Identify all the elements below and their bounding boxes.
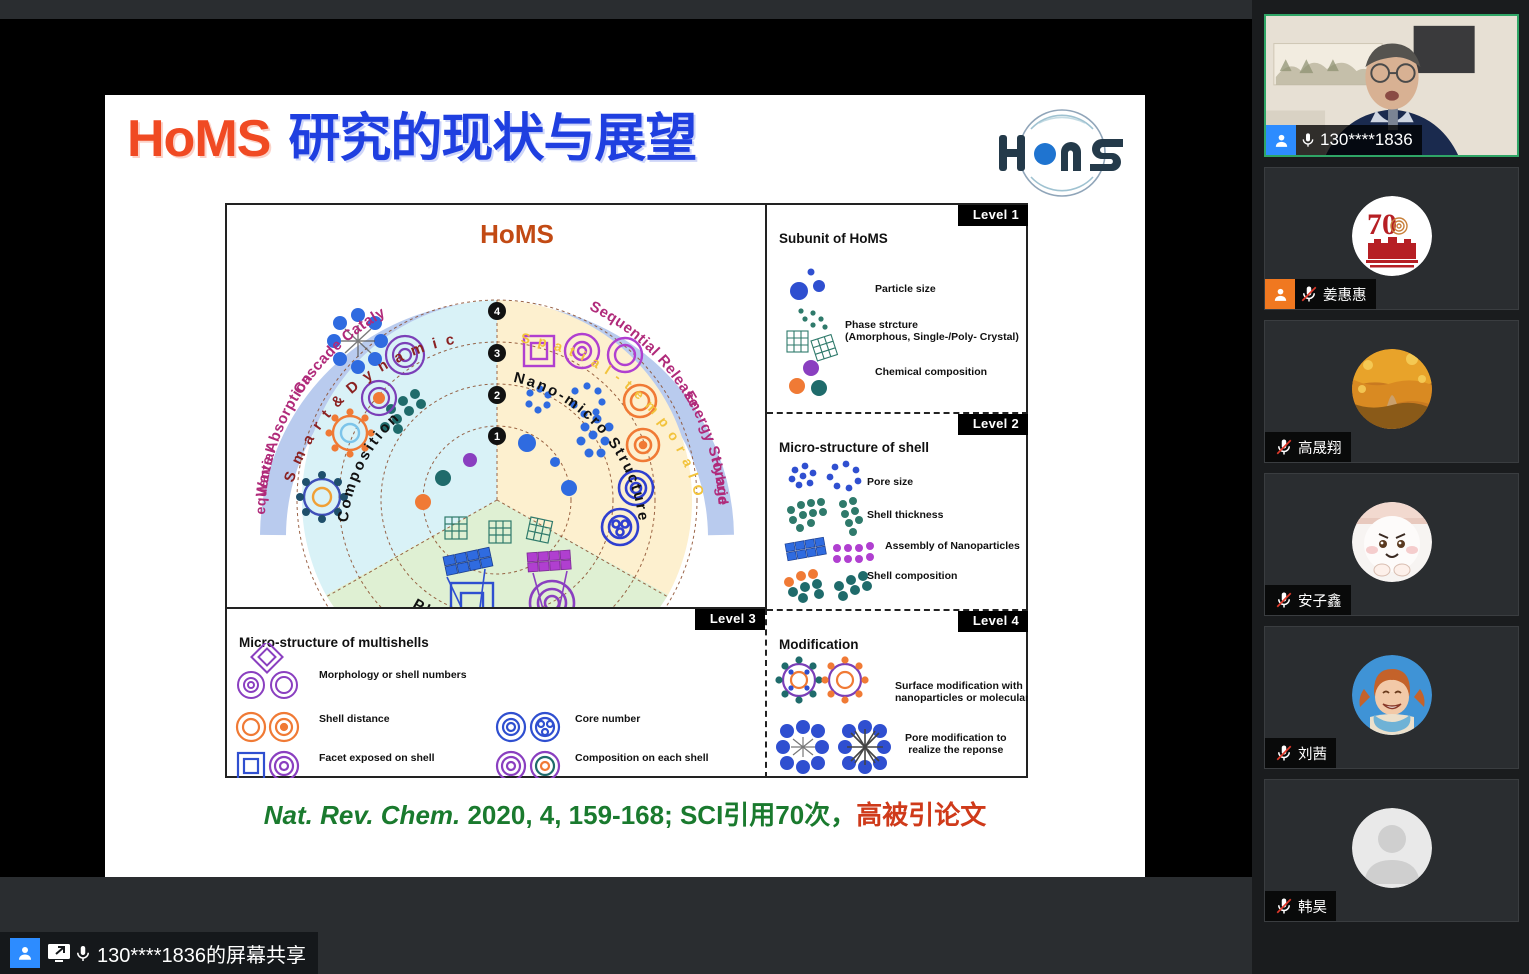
citation-details: 2020, 4, 159-168; SCI引用70次， xyxy=(460,800,856,830)
participant-tile[interactable]: 韩昊 xyxy=(1264,779,1519,922)
share-status-text: 130****1836的屏幕共享 xyxy=(97,939,306,968)
level-3-item-1: Shell distance xyxy=(319,713,390,725)
microphone-muted-icon[interactable] xyxy=(1299,285,1319,303)
level-4-item-1: Pore modification to realize the reponse xyxy=(905,732,1007,757)
avatar-image xyxy=(1352,349,1432,429)
svg-text:2: 2 xyxy=(494,390,500,402)
avatar-image xyxy=(1352,502,1432,582)
presentation-slide: HoMS研究的现状与展望 xyxy=(105,95,1145,877)
circular-infographic: 1 2 3 4 xyxy=(227,205,767,609)
level-1-item-2: Chemical composition xyxy=(875,366,987,378)
participant-tile[interactable]: 高晟翔 xyxy=(1264,320,1519,463)
svg-text:3: 3 xyxy=(494,348,500,360)
svg-text:70: 70 xyxy=(1367,208,1397,241)
participant-tile[interactable]: 70 姜惠惠 xyxy=(1264,167,1519,310)
zoom-meeting-window: HoMS研究的现状与展望 xyxy=(0,0,1529,974)
level-3-item-4: Composition on each shell xyxy=(575,752,709,764)
level-1-heading: Subunit of HoMS xyxy=(779,231,888,246)
level-3-item-0: Morphology or shell numbers xyxy=(319,669,467,681)
slide-title-cn: 研究的现状与展望 xyxy=(288,110,696,168)
level-1-item-0: Particle size xyxy=(875,283,936,295)
participant-tile[interactable]: 刘茜 xyxy=(1264,626,1519,769)
homs-circle-svg: 1 2 3 4 xyxy=(227,205,767,609)
panel-level-3: Level 3 Micro-structure of multishells xyxy=(227,609,767,778)
microphone-muted-icon[interactable] xyxy=(1274,591,1294,609)
circle-center-title: HoMS xyxy=(480,219,554,249)
screen-share-stage[interactable]: HoMS研究的现状与展望 xyxy=(0,0,1252,974)
participant-namebar: 高晟翔 xyxy=(1265,432,1351,462)
panel-level-2: Level 2 Micro-structure of shell xyxy=(767,412,1028,609)
microphone-muted-icon[interactable] xyxy=(1274,897,1294,915)
participant-namebar: 姜惠惠 xyxy=(1265,279,1376,309)
person-icon xyxy=(10,938,40,968)
participant-tile[interactable]: 130****1836 xyxy=(1264,14,1519,157)
citation-highlight: 高被引论文 xyxy=(856,800,986,830)
microphone-muted-icon[interactable] xyxy=(1274,438,1294,456)
avatar: 70 xyxy=(1352,196,1432,276)
level-2-heading: Micro-structure of shell xyxy=(779,440,929,455)
level-1-item-1: Phase strcture (Amorphous, Single-/Poly-… xyxy=(845,319,1019,344)
avatar xyxy=(1352,808,1432,888)
participant-name: 高晟翔 xyxy=(1298,437,1342,458)
level-1-tag: Level 1 xyxy=(959,205,1028,225)
participant-namebar: 130****1836 xyxy=(1266,125,1422,155)
level-2-item-2: Assembly of Nanoparticles xyxy=(885,540,1020,552)
participant-name: 韩昊 xyxy=(1298,896,1327,917)
svg-text:4: 4 xyxy=(494,306,501,318)
participant-name: 130****1836 xyxy=(1320,130,1413,150)
participant-namebar: 刘茜 xyxy=(1265,738,1336,768)
svg-text:1: 1 xyxy=(494,431,500,443)
share-status-bar: 130****1836的屏幕共享 xyxy=(0,932,318,974)
panel-level-1: Level 1 Subunit of HoMS Particle size Ph… xyxy=(767,205,1028,412)
avatar xyxy=(1352,502,1432,582)
level-2-tag: Level 2 xyxy=(959,414,1028,434)
participant-tile[interactable]: 安子鑫 xyxy=(1264,473,1519,616)
avatar-image xyxy=(1352,655,1432,735)
participant-name: 刘茜 xyxy=(1298,743,1327,764)
level-4-heading: Modification xyxy=(779,637,859,652)
citation-journal: Nat. Rev. Chem. xyxy=(264,800,461,830)
slide-citation: Nat. Rev. Chem. 2020, 4, 159-168; SCI引用7… xyxy=(105,795,1145,832)
level-2-item-1: Shell thickness xyxy=(867,509,943,521)
screen-share-icon xyxy=(47,943,71,963)
level-2-item-0: Pore size xyxy=(867,476,913,488)
outer-label-sequential-2: Sequential xyxy=(227,205,279,515)
level-3-item-3: Facet exposed on shell xyxy=(319,752,435,764)
panel-level-4: Level 4 Modification xyxy=(767,609,1028,778)
level-4-icons xyxy=(767,653,1028,778)
participant-name: 姜惠惠 xyxy=(1323,284,1367,305)
slide-title-en: HoMS xyxy=(127,110,270,168)
level-3-tag: Level 3 xyxy=(696,609,765,629)
avatar xyxy=(1352,655,1432,735)
participant-strip[interactable]: 130****1836 70 xyxy=(1252,0,1529,974)
participant-namebar: 安子鑫 xyxy=(1265,585,1351,615)
level-3-item-2: Core number xyxy=(575,713,640,725)
level-4-item-0: Surface modification with nanoparticles … xyxy=(895,680,1028,705)
homs-diagram: 1 2 3 4 xyxy=(225,203,1028,778)
person-icon xyxy=(1266,125,1296,155)
avatar xyxy=(1352,349,1432,429)
level-2-item-3: Shell composition xyxy=(867,570,957,582)
microphone-icon xyxy=(74,943,92,964)
avatar-image: 70 xyxy=(1352,196,1432,276)
participant-namebar: 韩昊 xyxy=(1265,891,1336,921)
microphone-icon[interactable] xyxy=(1300,131,1316,149)
person-icon xyxy=(1265,279,1295,309)
svg-text:Sequential: Sequential xyxy=(227,205,279,515)
slide-title: HoMS研究的现状与展望 xyxy=(127,113,696,165)
homs-logo-icon xyxy=(990,107,1135,199)
participant-name: 安子鑫 xyxy=(1298,590,1342,611)
level-4-tag: Level 4 xyxy=(959,611,1028,631)
microphone-muted-icon[interactable] xyxy=(1274,744,1294,762)
default-avatar-icon xyxy=(1352,808,1432,888)
homs-logo xyxy=(990,107,1135,199)
